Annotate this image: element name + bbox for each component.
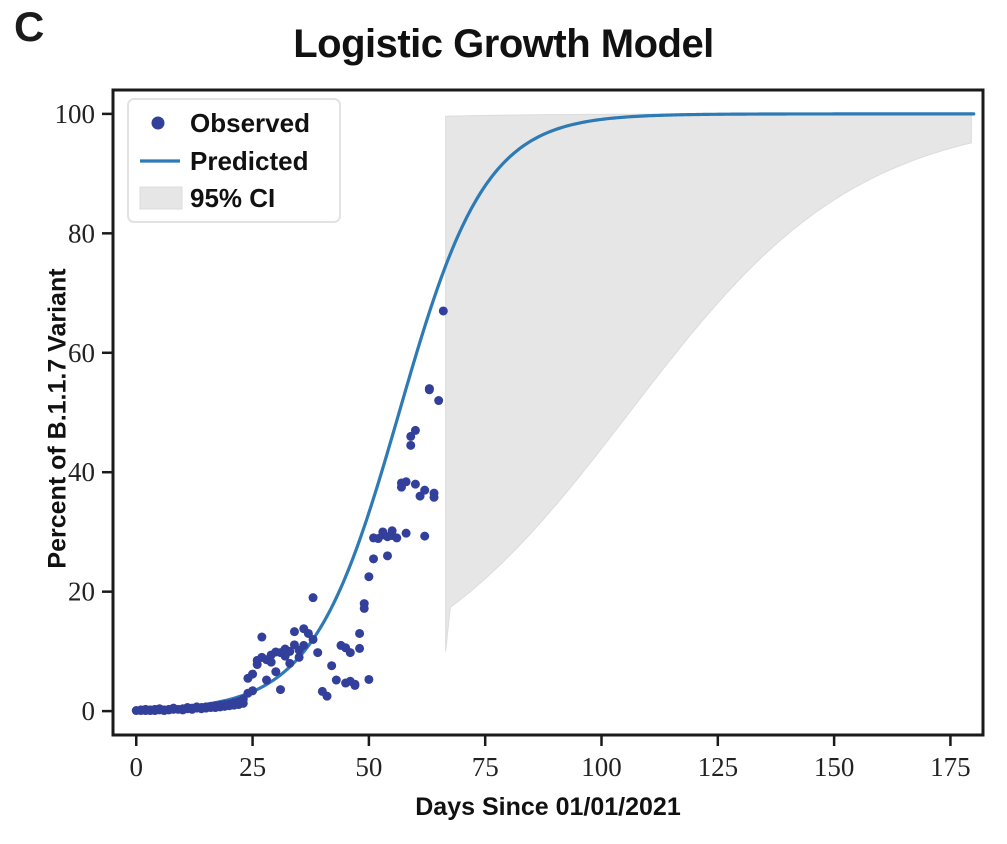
svg-text:150: 150 <box>814 752 855 782</box>
svg-text:100: 100 <box>55 99 96 129</box>
svg-text:75: 75 <box>472 752 499 782</box>
legend-label-2: 95% CI <box>190 183 275 213</box>
y-axis-ticks: 020406080100 <box>55 99 114 726</box>
legend-marker-observed <box>152 117 165 130</box>
svg-text:175: 175 <box>930 752 971 782</box>
svg-text:50: 50 <box>355 752 382 782</box>
svg-text:20: 20 <box>68 577 95 607</box>
svg-text:100: 100 <box>581 752 622 782</box>
legend-label-0: Observed <box>190 108 310 138</box>
svg-text:80: 80 <box>68 218 95 248</box>
plot-area: 0255075100125150175 020406080100 Observe… <box>0 0 1007 844</box>
legend[interactable]: ObservedPredicted95% CI <box>128 99 340 222</box>
observed-points <box>132 306 448 715</box>
svg-text:60: 60 <box>68 338 95 368</box>
legend-marker-95ci <box>140 187 182 209</box>
svg-text:0: 0 <box>130 752 144 782</box>
svg-text:25: 25 <box>239 752 266 782</box>
figure-panel: C Logistic Growth Model Percent of B.1.1… <box>0 0 1007 844</box>
svg-text:40: 40 <box>68 457 95 487</box>
legend-label-1: Predicted <box>190 146 309 176</box>
svg-text:125: 125 <box>698 752 739 782</box>
confidence-band-95ci <box>446 114 972 651</box>
x-axis-ticks: 0255075100125150175 <box>130 735 971 782</box>
svg-text:0: 0 <box>82 696 96 726</box>
